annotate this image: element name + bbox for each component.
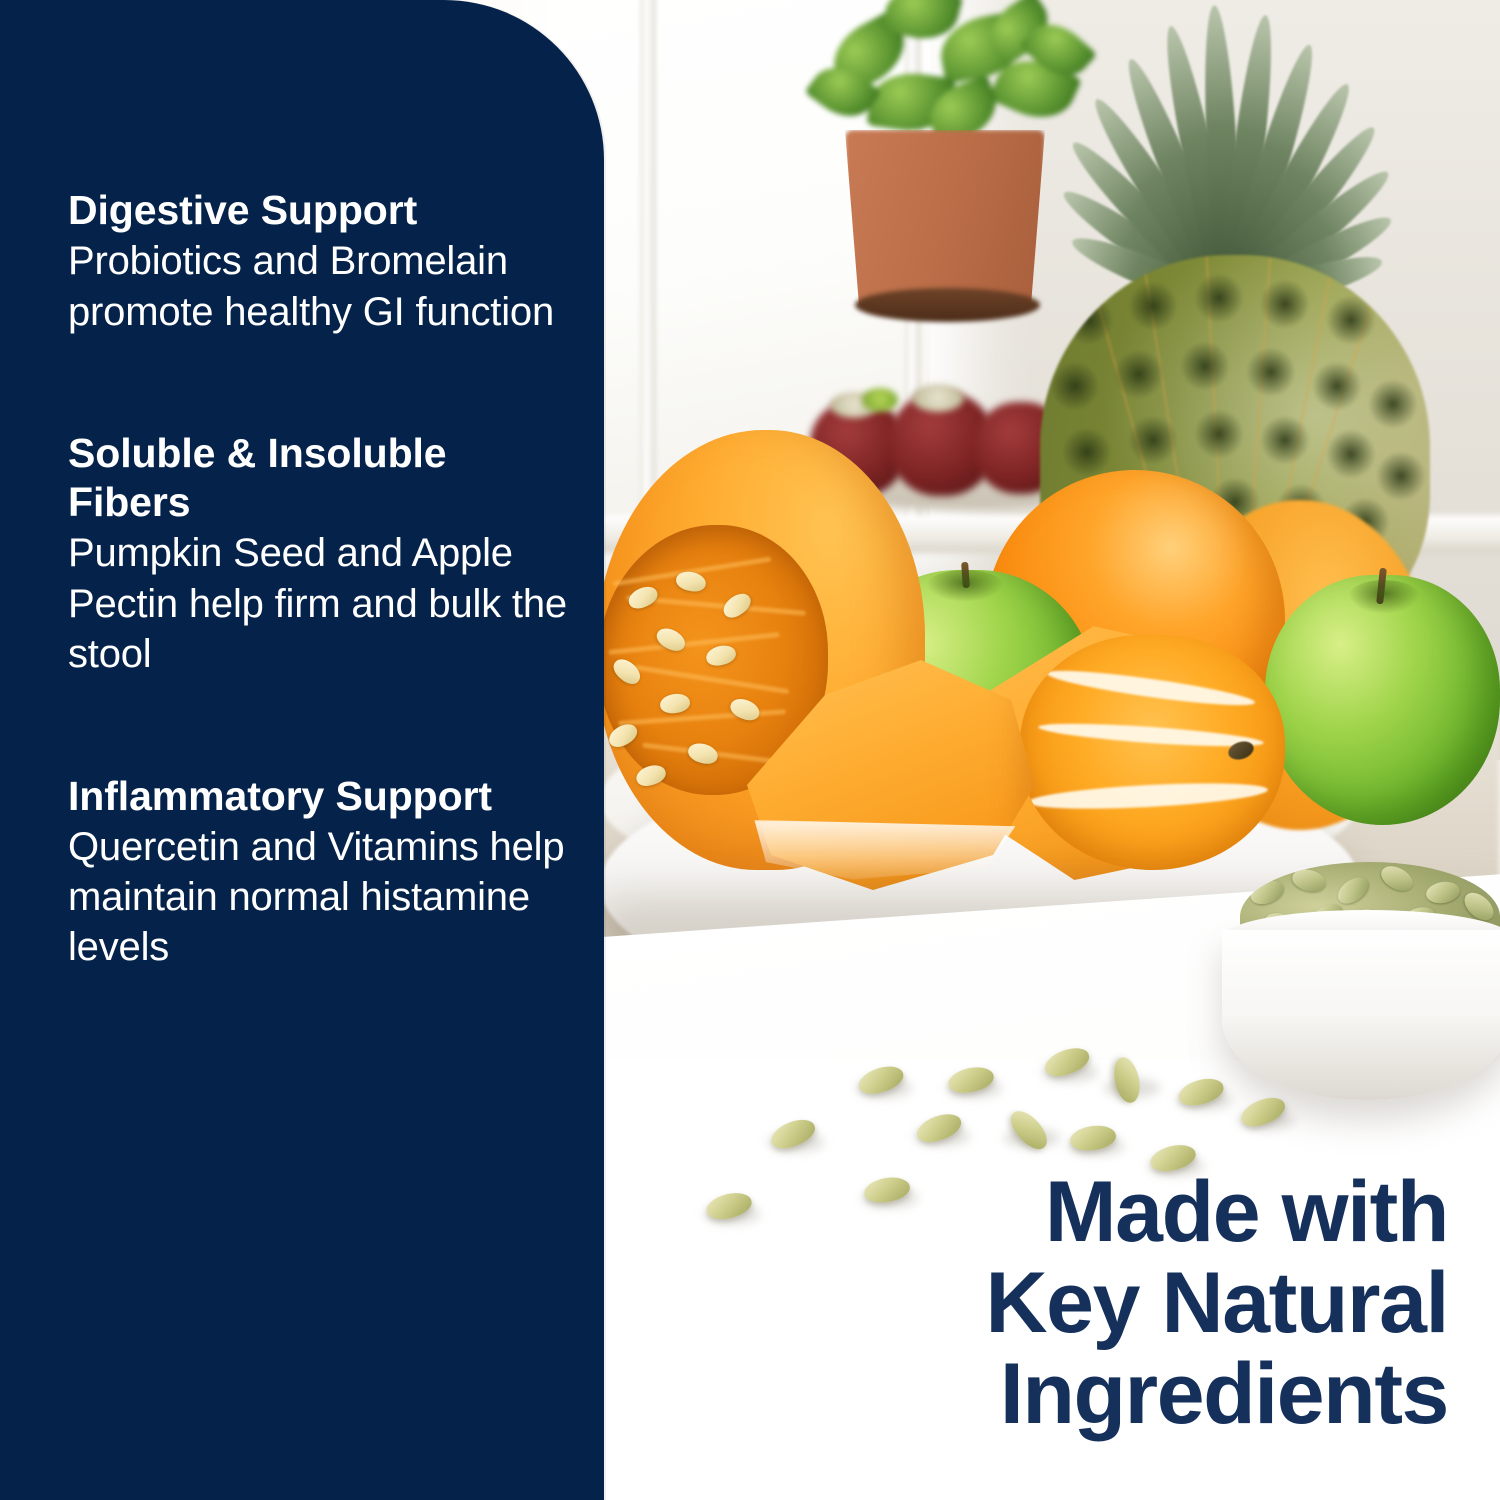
headline-line-1: Made with	[985, 1167, 1448, 1258]
benefit-block-inflammatory-support: Inflammatory Support Quercetin and Vitam…	[68, 772, 573, 973]
benefit-body: Probiotics and Bromelain promote healthy…	[68, 236, 573, 337]
apple-dimple	[926, 570, 1004, 602]
benefit-body: Pumpkin Seed and Apple Pectin help firm …	[68, 528, 573, 679]
mangosteen-cap	[912, 384, 964, 412]
window-mullion-icon	[640, 0, 656, 540]
headline-line-3: Ingredients	[985, 1349, 1448, 1440]
benefit-block-soluble-insoluble-fibers: Soluble & Insoluble Fibers Pumpkin Seed …	[68, 429, 573, 680]
benefit-title: Soluble & Insoluble Fibers	[68, 429, 573, 527]
ad-canvas: Digestive Support Probiotics and Bromela…	[0, 0, 1500, 1500]
benefit-block-digestive-support: Digestive Support Probiotics and Bromela…	[68, 186, 573, 337]
benefit-title: Inflammatory Support	[68, 772, 573, 821]
benefits-panel: Digestive Support Probiotics and Bromela…	[0, 0, 604, 1500]
headline: Made with Key Natural Ingredients	[985, 1167, 1448, 1440]
headline-line-2: Key Natural	[985, 1258, 1448, 1349]
benefits-list: Digestive Support Probiotics and Bromela…	[0, 0, 604, 973]
pumpkin-seed-bowl	[1222, 930, 1500, 1100]
benefit-title: Digestive Support	[68, 186, 573, 235]
mangosteen-calyx	[862, 388, 898, 412]
benefit-body: Quercetin and Vitamins help maintain nor…	[68, 822, 573, 973]
apple-dimple	[1348, 580, 1420, 614]
